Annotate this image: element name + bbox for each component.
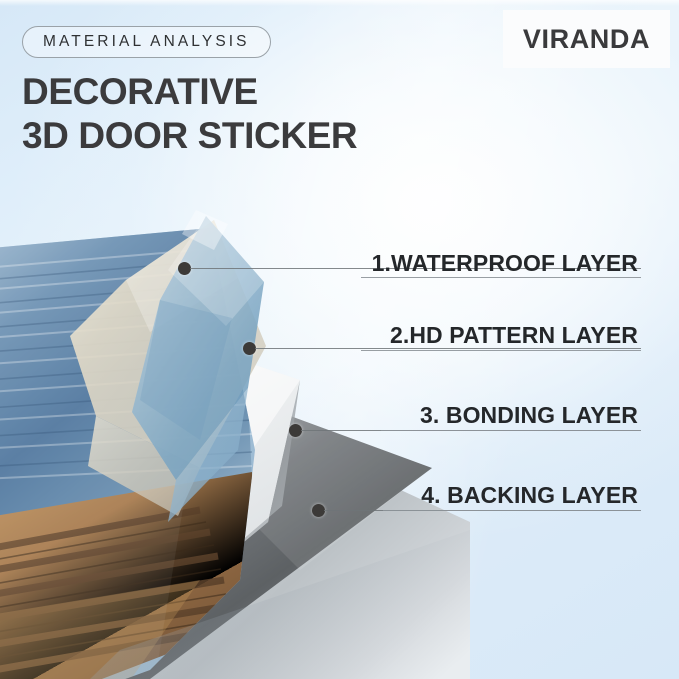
infographic-canvas: MATERIAL ANALYSIS DECORATIVE 3D DOOR STI… (0, 0, 679, 679)
brand-name: VIRANDA (523, 24, 650, 55)
material-analysis-badge: MATERIAL ANALYSIS (22, 26, 271, 58)
title-line-2: 3D DOOR STICKER (22, 114, 357, 158)
layer-rule-backing (383, 510, 641, 511)
background-top-edge (0, 0, 679, 6)
layer-rule-bonding (381, 430, 641, 431)
title-line-1: DECORATIVE (22, 71, 258, 112)
badge-label: MATERIAL ANALYSIS (43, 33, 250, 51)
layer-rule-pattern (361, 350, 641, 351)
layer-label-waterproof: 1.WATERPROOF LAYER (372, 250, 638, 277)
layer-rule-waterproof (361, 277, 641, 278)
layer-label-bonding: 3. BONDING LAYER (420, 402, 638, 429)
layer-label-backing: 4. BACKING LAYER (421, 482, 638, 509)
layer-label-pattern: 2.HD PATTERN LAYER (390, 322, 638, 349)
sticker-artwork (0, 150, 470, 679)
page-title: DECORATIVE 3D DOOR STICKER (22, 70, 357, 158)
brand-logo: VIRANDA (503, 10, 670, 68)
